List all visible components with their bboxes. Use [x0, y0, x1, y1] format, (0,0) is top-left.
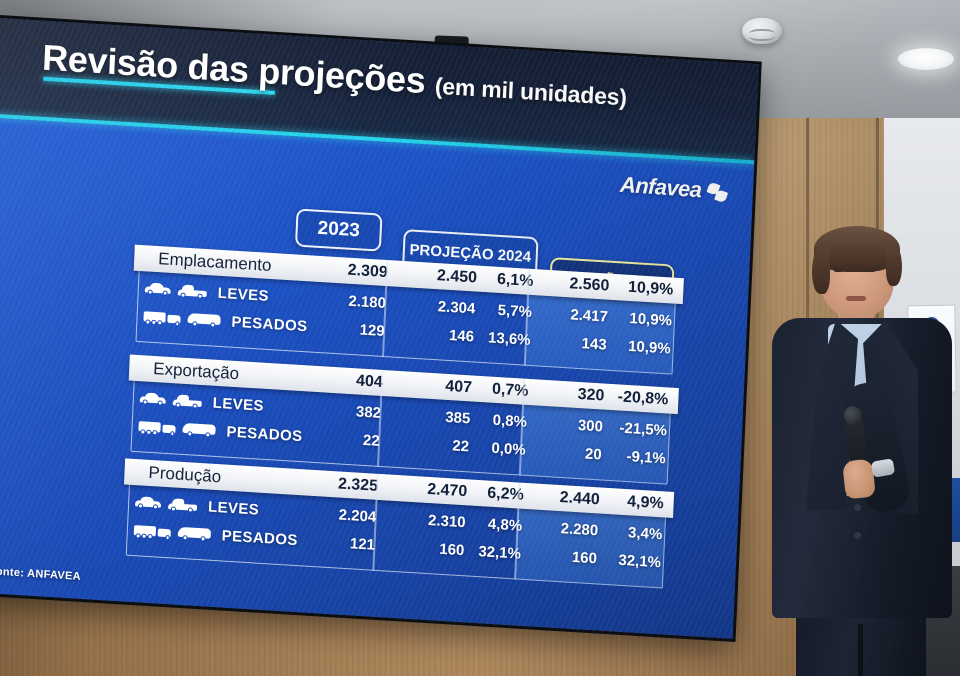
row-projection-percent: 0,0% [477, 438, 546, 459]
row-label-pesados: PESADOS [131, 307, 310, 335]
presenter-eyebrow [864, 262, 876, 265]
section-projection-percent: 6,1% [485, 270, 554, 292]
slide-surface: Revisão das projeções (em mil unidades) … [0, 18, 759, 639]
section-revision-percent: 4,9% [607, 492, 674, 514]
room-scene: Revisão das projeções (em mil unidades) … [0, 0, 960, 676]
row-revision-value: 2.280 [542, 518, 607, 539]
column-header-2023: 2023 [295, 208, 383, 251]
row-revision-value: 20 [545, 443, 610, 464]
presenter-person [762, 232, 960, 676]
ceiling-light-icon [898, 48, 954, 70]
row-revision-percent: 10,9% [614, 337, 681, 358]
row-label-text: LEVES [217, 284, 269, 304]
row-projection-percent: 13,6% [482, 328, 551, 349]
presenter-jacket-button [854, 504, 861, 511]
pickup-truck-icon [178, 284, 208, 299]
presenter-eye [866, 268, 875, 272]
row-revision-percent: 3,4% [606, 522, 673, 543]
section-value-2023: 404 [308, 369, 407, 393]
presenter-jacket-button [854, 532, 861, 539]
row-projection-percent: 5,7% [483, 301, 552, 322]
row-value-2023: 382 [306, 400, 405, 423]
section-projection-value: 407 [406, 375, 480, 397]
row-projection-value: 2.304 [410, 296, 484, 317]
section-projection-value: 2.470 [402, 479, 476, 501]
row-label-text: PESADOS [231, 313, 308, 335]
row-projection-percent: 4,8% [473, 514, 542, 535]
row-label-text: LEVES [212, 394, 264, 414]
pickup-truck-icon [173, 394, 203, 409]
presenter-hair-side [812, 246, 830, 294]
row-label-pesados: PESADOS [126, 417, 305, 445]
car-icon [145, 282, 171, 296]
row-projection-value: 160 [399, 538, 473, 559]
row-value-2023: 22 [305, 428, 404, 451]
anfavea-logo: Anfavea [619, 172, 728, 205]
section-projection-percent: 0,7% [480, 380, 549, 402]
row-label-text: PESADOS [226, 423, 303, 445]
pickup-truck-icon [168, 498, 198, 513]
row-revision-percent: 32,1% [605, 550, 672, 571]
row-projection-value: 146 [408, 324, 482, 345]
presenter-hair-side [886, 244, 902, 286]
car-icon [140, 392, 166, 406]
row-projection-value: 2.310 [400, 510, 474, 531]
section-revision-percent: 10,9% [617, 278, 684, 300]
row-revision-percent: 10,9% [616, 309, 683, 330]
row-revision-value: 160 [540, 546, 605, 567]
source-note: Fonte: ANFAVEA [0, 565, 81, 583]
semi-truck-icon [134, 523, 172, 540]
section-value-2023: 2.325 [303, 473, 402, 497]
row-projection-percent: 0,8% [478, 410, 547, 431]
section-revision-value: 320 [548, 384, 613, 406]
row-revision-value: 2.417 [551, 305, 616, 326]
anfavea-logo-text: Anfavea [619, 172, 702, 203]
bus-icon [182, 422, 216, 438]
presenter-leg-split [858, 624, 863, 676]
semi-truck-icon [138, 419, 176, 436]
row-value-2023: 2.180 [311, 290, 410, 313]
section-revision-value: 2.440 [543, 488, 608, 510]
section-projection-value: 2.450 [411, 266, 485, 288]
row-revision-value: 300 [546, 415, 611, 436]
row-value-2023: 121 [300, 532, 399, 555]
row-revision-percent: -9,1% [609, 446, 676, 467]
row-label-text: LEVES [208, 498, 260, 518]
section-revision-percent: -20,8% [612, 388, 679, 410]
row-revision-value: 143 [550, 333, 615, 354]
section-value-2023: 2.309 [313, 260, 412, 284]
row-value-2023: 129 [310, 318, 409, 341]
presenter-mouth [846, 296, 866, 301]
presenter-eyebrow [832, 262, 844, 265]
row-projection-percent: 32,1% [472, 542, 541, 563]
smoke-detector-icon [742, 18, 782, 44]
bus-icon [187, 312, 221, 328]
car-icon [135, 496, 161, 510]
row-label-text: PESADOS [221, 527, 298, 549]
row-projection-value: 385 [405, 406, 479, 427]
projection-screen: Revisão das projeções (em mil unidades) … [0, 18, 759, 639]
section-exportacao: Exportação 404 407 0,7% 320 -20,8% LEVES [126, 355, 679, 473]
bus-icon [178, 526, 212, 542]
semi-truck-icon [143, 309, 181, 326]
presenter-eye [834, 268, 843, 272]
row-revision-percent: -21,5% [611, 419, 678, 440]
section-revision-value: 2.560 [553, 274, 618, 296]
section-projection-percent: 6,2% [475, 484, 544, 506]
row-value-2023: 2.204 [301, 504, 400, 527]
row-projection-value: 22 [403, 434, 477, 455]
row-label-pesados: PESADOS [122, 521, 301, 549]
anfavea-logo-mark-icon [707, 181, 727, 201]
